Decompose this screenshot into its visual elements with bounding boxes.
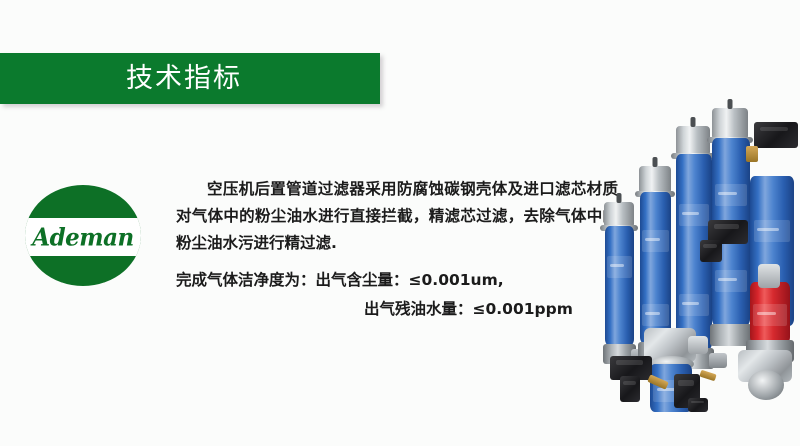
brass-fitting	[699, 370, 716, 382]
brass-fitting	[746, 146, 758, 162]
spec-row-2: 出气残油水量：≤0.001ppm	[176, 296, 636, 323]
title-banner: 技术指标	[0, 53, 380, 104]
chrome-cap-icon	[712, 108, 748, 140]
filter-vessel-blue	[605, 226, 634, 346]
filter-vessel-red	[750, 282, 790, 344]
logo-band: Ademan	[25, 218, 141, 256]
solenoid-coil	[620, 376, 640, 402]
spec-row-1: 完成气体洁净度为：出气含尘量：≤0.001um,	[176, 267, 636, 294]
bowl-ring	[748, 370, 784, 400]
chrome-cap-icon	[639, 166, 671, 194]
filter-vessel-blue	[640, 192, 671, 344]
description-paragraph: 空压机后置管道过滤器采用防腐蚀碳钢壳体及进口滤芯材质对气体中的粉尘油水进行直接拦…	[176, 176, 618, 257]
solenoid-valve-icon	[754, 122, 798, 148]
page-title: 技术指标	[126, 65, 242, 92]
brand-logo: Ademan	[25, 185, 141, 286]
spec-intro-label: 完成气体洁净度为：	[176, 271, 316, 289]
body-text-block: 空压机后置管道过滤器采用防腐蚀碳钢壳体及进口滤芯材质对气体中的粉尘油水进行直接拦…	[176, 176, 636, 323]
spec-value-dust: ≤0.001um,	[409, 271, 504, 289]
solenoid-coil	[688, 398, 708, 412]
spec-label-oil: 出气残油水量：	[364, 300, 473, 318]
chrome-cap-icon	[604, 202, 634, 228]
logo-circle: Ademan	[25, 185, 141, 286]
chrome-cap-icon	[676, 126, 710, 156]
spec-label-dust: 出气含尘量：	[316, 271, 409, 289]
aluminum-port	[688, 336, 708, 354]
solenoid-coil	[700, 240, 722, 262]
aluminum-port	[758, 264, 780, 288]
slide-root: 技术指标 Ademan 空压机后置管道过滤器采用防腐蚀碳钢壳体及进口滤芯材质对气…	[0, 0, 800, 446]
product-photo-cluster	[596, 128, 800, 428]
spec-value-oil: ≤0.001ppm	[473, 300, 573, 318]
logo-wordmark: Ademan	[32, 225, 134, 249]
